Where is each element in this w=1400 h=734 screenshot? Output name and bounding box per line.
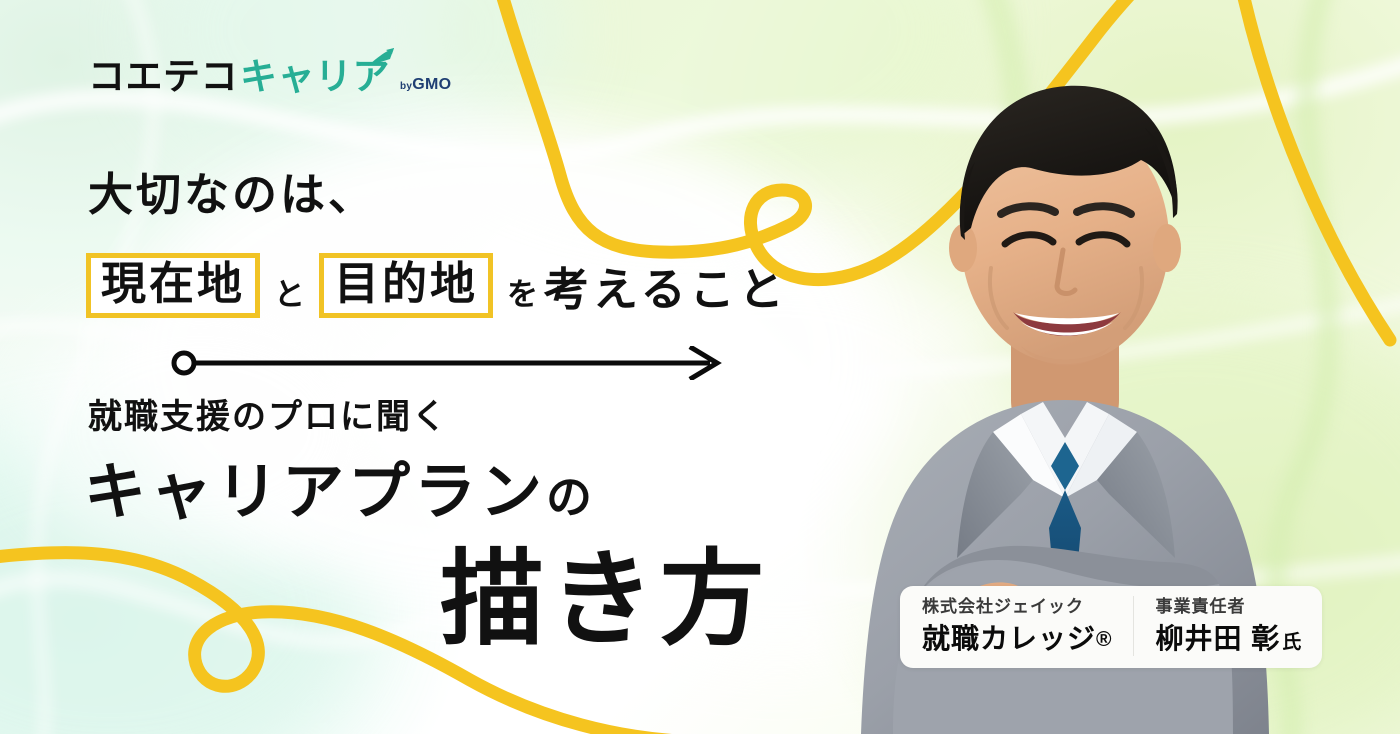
- boxed-term-destination: 目的地: [319, 253, 493, 318]
- logo-by-text: by: [400, 81, 412, 92]
- title-particle-no: の: [546, 471, 592, 523]
- boxed-term-current-location: 現在地: [86, 253, 260, 318]
- headline-title-line-1: キャリアプランの: [84, 462, 592, 524]
- speaker-role-label: 事業責任者: [1156, 596, 1303, 617]
- speaker-person-name: 柳井田 彰氏: [1156, 621, 1303, 656]
- headline-title-line-2: 描き方: [440, 548, 770, 652]
- headline-line-2-tail: 考えること: [544, 253, 788, 318]
- person-name-suffix: 氏: [1282, 632, 1302, 653]
- speaker-name-card: 株式会社ジェイック 就職カレッジ® 事業責任者 柳井田 彰氏: [900, 586, 1322, 668]
- site-logo[interactable]: コエテコ キャリア byGMO: [88, 58, 451, 95]
- hero-banner: コエテコ キャリア byGMO 大切なのは、 現在地 と 目的地 を 考えること…: [0, 0, 1400, 734]
- service-name-text: 就職カレッジ: [922, 623, 1096, 654]
- speaker-person-column: 事業責任者 柳井田 彰氏: [1133, 596, 1303, 656]
- speaker-company-label: 株式会社ジェイック: [922, 596, 1113, 617]
- speaker-service-name: 就職カレッジ®: [922, 621, 1113, 656]
- logo-text-koeteko: コエテコ: [88, 58, 238, 95]
- logo-career-wrapper: キャリア: [238, 58, 390, 95]
- rising-arrow-icon: [366, 46, 396, 68]
- headline-conjunction: と: [274, 257, 305, 314]
- progress-arrow-icon: [170, 346, 730, 380]
- headline-line-2: 現在地 と 目的地 を 考えること: [86, 253, 788, 318]
- person-name-text: 柳井田 彰: [1156, 623, 1281, 654]
- speaker-company-column: 株式会社ジェイック 就職カレッジ®: [922, 596, 1133, 656]
- headline-particle: を: [507, 257, 538, 314]
- headline-line-1: 大切なのは、: [88, 172, 376, 217]
- title-careerplan: キャリアプラン: [84, 458, 546, 527]
- headline-kicker: 就職支援のプロに聞く: [88, 400, 448, 434]
- registered-trademark-icon: ®: [1096, 628, 1112, 651]
- logo-by-gmo: byGMO: [400, 77, 451, 93]
- logo-gmo-text: GMO: [412, 76, 451, 93]
